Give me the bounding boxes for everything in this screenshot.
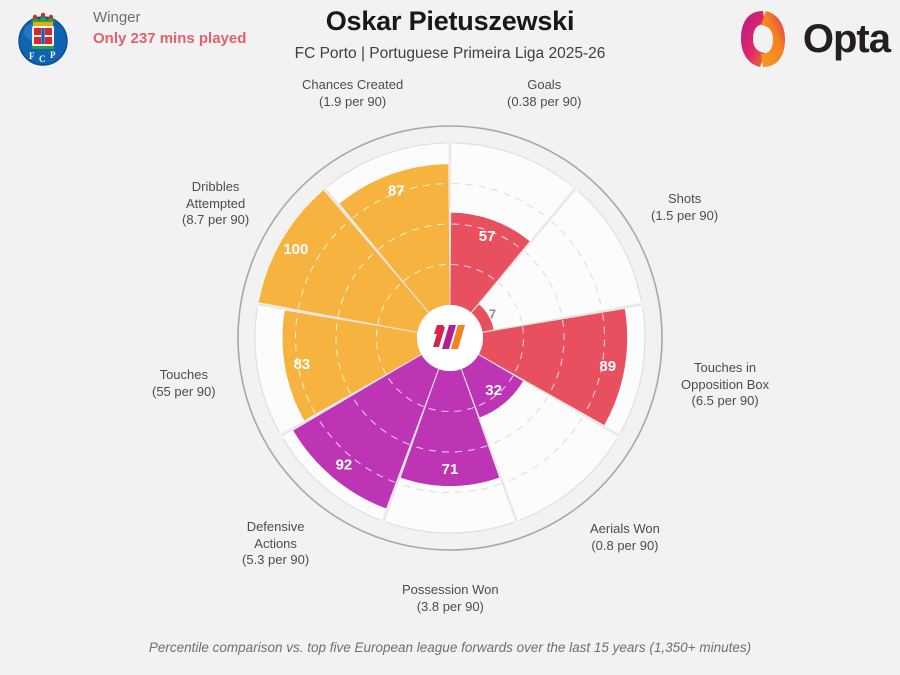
axis-label-line: Attempted [182,196,249,213]
axis-label-line: Chances Created [302,77,403,94]
axis-label-line: Goals [507,77,581,94]
axis-label-per90: (1.5 per 90) [651,208,718,225]
opta-wordmark: Opta [803,19,890,59]
pizza-chart: 577893271928310087 Goals(0.38 per 90)Sho… [0,88,900,628]
axis-label-aerials-won: Aerials Won(0.8 per 90) [590,521,660,554]
axis-label-goals: Goals(0.38 per 90) [507,77,581,110]
slice-value-label: 57 [479,228,496,245]
opta-logo-icon [732,8,794,70]
axis-label-line: Shots [651,191,718,208]
axis-label-line: Touches [152,367,216,384]
slice-value-label: 92 [336,456,353,473]
axis-label-dribbles-attempted: DribblesAttempted(8.7 per 90) [182,179,249,229]
axis-label-per90: (5.3 per 90) [242,552,309,569]
slice-value-label: 87 [388,183,405,200]
axis-label-line: Opposition Box [681,377,769,394]
axis-label-line: Aerials Won [590,521,660,538]
axis-label-touches-in-opposition-box: Touches inOpposition Box(6.5 per 90) [681,360,769,410]
slice-value-label: 71 [442,461,459,478]
pizza-chart-page: F C P Winger Only 237 mins played Oskar … [0,0,900,675]
axis-label-per90: (1.9 per 90) [302,94,403,111]
slice-value-label: 100 [283,241,308,258]
axis-label-line: Defensive [242,519,309,536]
axis-label-per90: (3.8 per 90) [402,599,499,616]
slice-value-label: 89 [599,358,616,375]
axis-label-possession-won: Possession Won(3.8 per 90) [402,582,499,615]
slice-value-label: 7 [489,307,496,322]
header: F C P Winger Only 237 mins played Oskar … [0,0,900,88]
axis-label-per90: (8.7 per 90) [182,212,249,229]
center-opta-mark [417,305,483,371]
axis-label-line: Dribbles [182,179,249,196]
axis-label-defensive-actions: DefensiveActions(5.3 per 90) [242,519,309,569]
slice-value-label: 32 [485,382,502,399]
axis-label-per90: (55 per 90) [152,384,216,401]
axis-label-shots: Shots(1.5 per 90) [651,191,718,224]
axis-label-per90: (6.5 per 90) [681,393,769,410]
axis-label-chances-created: Chances Created(1.9 per 90) [302,77,403,110]
axis-label-line: Actions [242,536,309,553]
axis-label-touches: Touches(55 per 90) [152,367,216,400]
axis-label-line: Possession Won [402,582,499,599]
axis-label-line: Touches in [681,360,769,377]
axis-label-per90: (0.8 per 90) [590,538,660,555]
opta-brand: Opta [732,8,890,70]
pizza-chart-svg: 577893271928310087 [0,88,900,628]
axis-label-per90: (0.38 per 90) [507,94,581,111]
slice-value-label: 83 [293,356,310,373]
footer-note: Percentile comparison vs. top five Europ… [0,640,900,655]
